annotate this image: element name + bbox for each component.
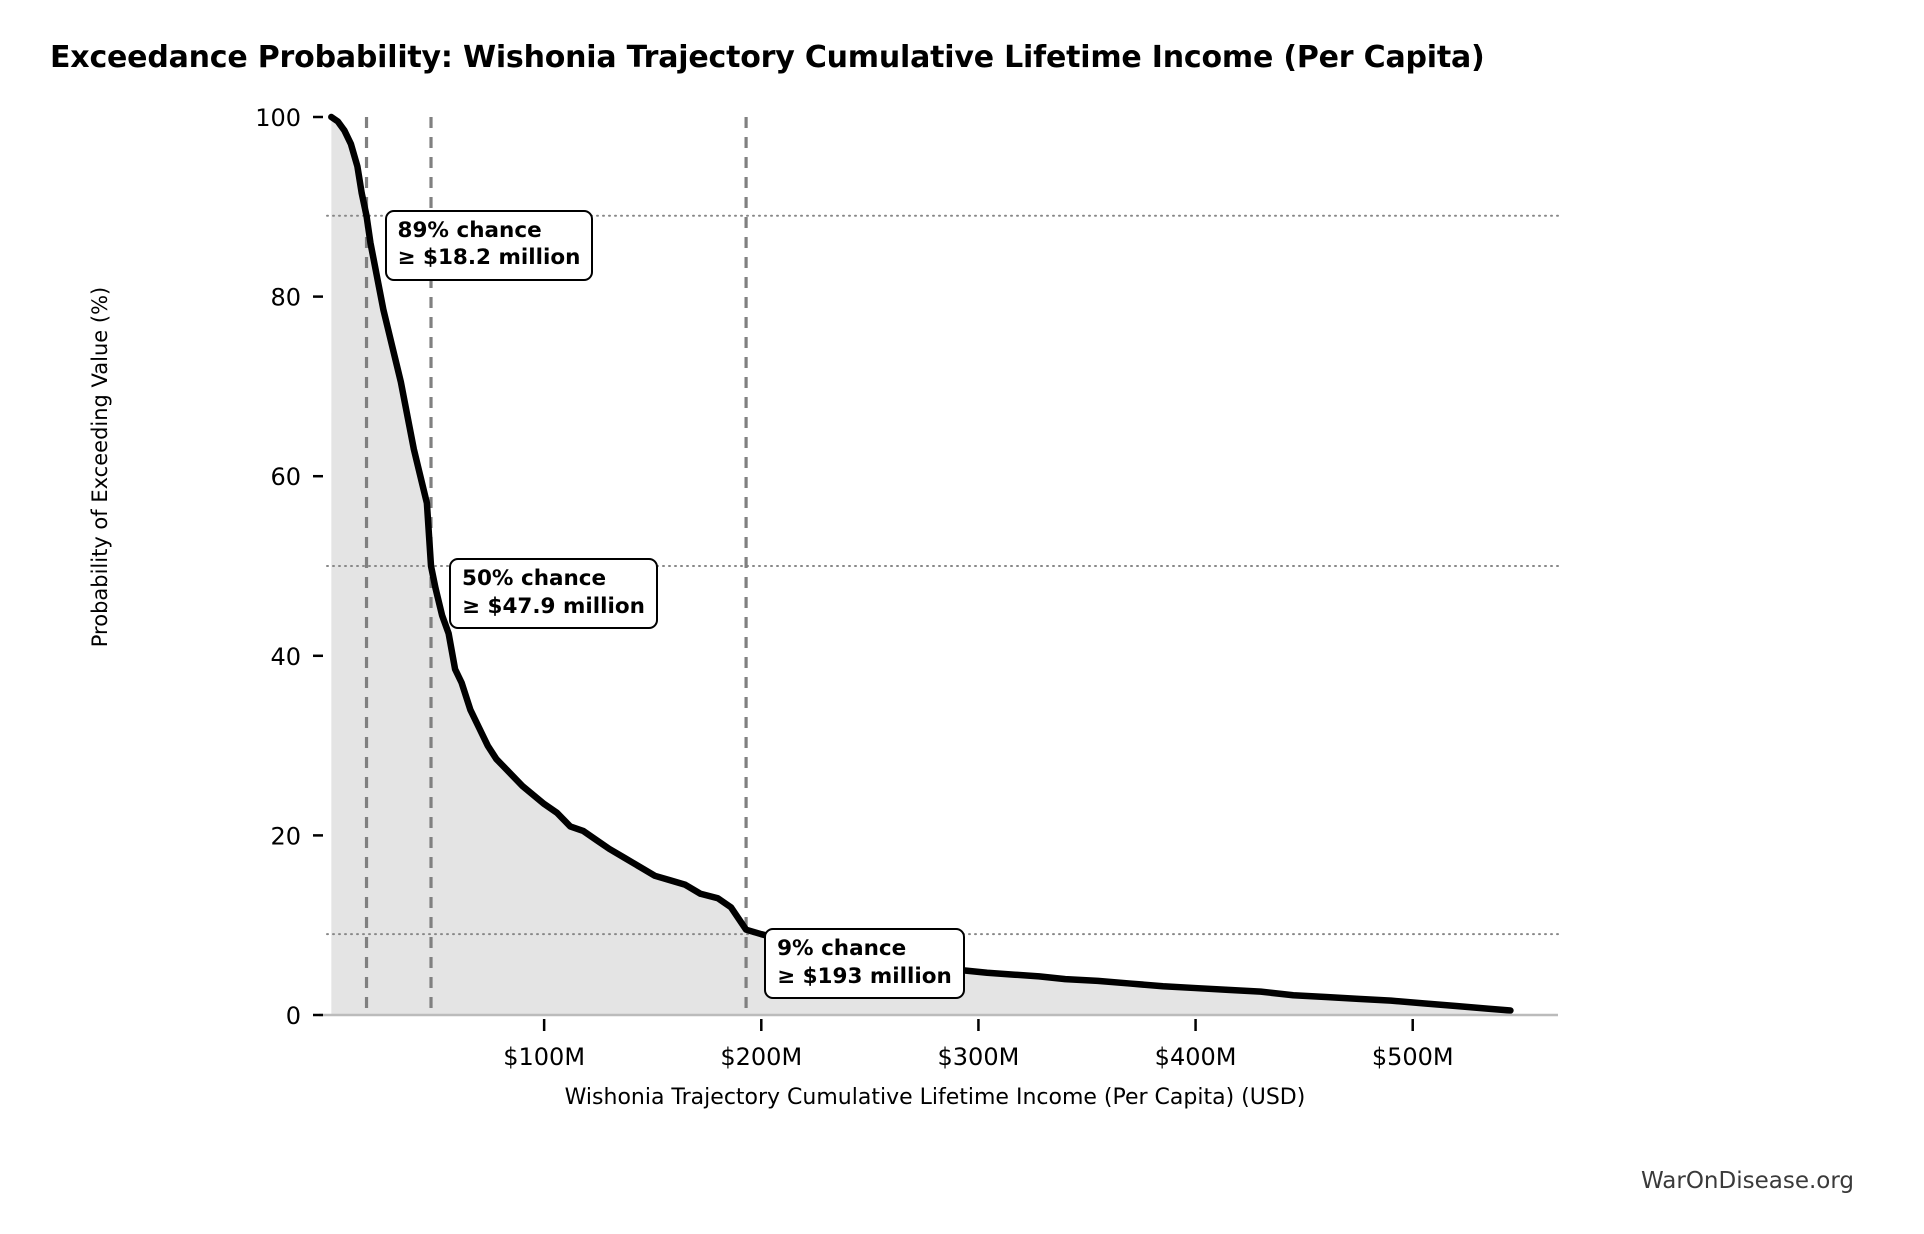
- annotation-box-89: 89% chance ≥ $18.2 million: [385, 210, 594, 281]
- y-tick-label: 0: [286, 1002, 301, 1030]
- annotation-box-50: 50% chance ≥ $47.9 million: [449, 558, 658, 629]
- x-tick-label: $500M: [1372, 1043, 1454, 1071]
- plot-area: 020406080100$100M$200M$300M$400M$500M: [0, 0, 1924, 1234]
- exceedance-probability-chart: Exceedance Probability: Wishonia Traject…: [0, 0, 1924, 1234]
- x-tick-label: $200M: [720, 1043, 802, 1071]
- annotation-line2: ≥ $18.2 million: [398, 244, 581, 272]
- annotation-box-9: 9% chance ≥ $193 million: [764, 928, 965, 999]
- y-tick-label: 60: [270, 463, 301, 491]
- x-tick-label: $100M: [503, 1043, 585, 1071]
- y-tick-label: 40: [270, 643, 301, 671]
- site-credit: WarOnDisease.org: [1641, 1168, 1854, 1194]
- y-tick-label: 100: [255, 104, 301, 132]
- annotation-line1: 9% chance: [777, 936, 906, 961]
- annotation-line1: 89% chance: [398, 218, 542, 243]
- annotation-line2: ≥ $193 million: [777, 963, 952, 991]
- y-tick-label: 20: [270, 822, 301, 850]
- x-tick-label: $400M: [1155, 1043, 1237, 1071]
- x-axis-label: Wishonia Trajectory Cumulative Lifetime …: [327, 1085, 1543, 1110]
- annotation-line2: ≥ $47.9 million: [462, 593, 645, 621]
- x-tick-label: $300M: [938, 1043, 1020, 1071]
- y-tick-label: 80: [270, 284, 301, 312]
- annotation-line1: 50% chance: [462, 566, 606, 591]
